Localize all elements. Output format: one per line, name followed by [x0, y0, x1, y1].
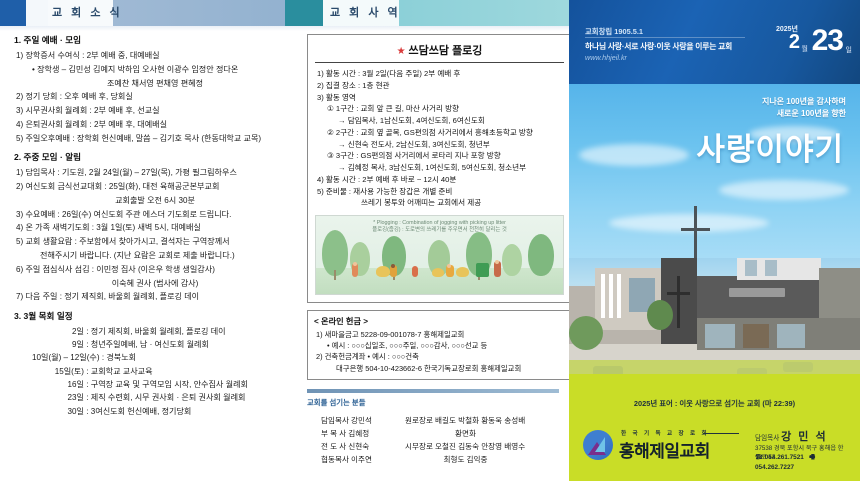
list-item: 3) 시무권사회 월례회 : 2부 예배 후, 선교실 [24, 105, 300, 117]
fax-icon: 🖷 [809, 454, 815, 461]
schedule-row: 9일 : 청년주일예배, 남 · 여신도회 월례회 [32, 339, 300, 351]
date-month: 2 [789, 31, 800, 54]
church-slogan: 하나님 사랑·서로 사랑·이웃 사랑을 이루는 교회 [585, 41, 732, 52]
elder-row: 황면화 [405, 427, 572, 440]
star-icon: ★ [397, 46, 406, 57]
list-item: 7) 다음 주일 : 정기 제직회, 바울회 월례회, 플로깅 데이 [24, 291, 300, 303]
church-phone: 054.261.7521 [765, 454, 804, 461]
plogging-line: ② 2구간 : 교회 옆 골목, GS편의점 사거리에서 흥해초등학교 방향 [335, 127, 564, 139]
plogging-line: 3) 활동 영역 [325, 92, 564, 104]
list-item: 2) 여신도회 금식선교대회 : 25일(화), 대전 육해공군본부교회 [24, 181, 300, 193]
building-entrance [743, 324, 769, 348]
list-item: 3) 수요예배 : 26일(수) 여신도회 주관 에스더 기도회로 드립니다. [24, 209, 300, 221]
tree-trunk [334, 270, 336, 280]
header-gradient-2 [399, 0, 569, 26]
pastor-name: 강 민 석 [781, 431, 827, 443]
schedule-text: : 3여신도회 헌신예배, 정기당회 [84, 407, 191, 416]
founding-date: 교회창립 1905.5.1 [585, 26, 643, 37]
servants-staff-list: 담임목사 강민석부 목 사 김혜정전 도 사 신현숙협동목사 이주연 [307, 414, 405, 466]
schedule-row: 10일(월) – 12일(수) : 경북노회 [32, 352, 300, 364]
section-title-sunday-worship: 1. 주일 예배 · 모임 [14, 34, 300, 47]
building-fin [601, 274, 605, 318]
plogging-illustration: * Plogging : Combination of jogging with… [315, 215, 564, 295]
cover-subtitle: 지나온 100년을 감사하며 새로운 100년을 향한 [569, 96, 846, 121]
elder-row: 시무장로 오철진 김동숙 안장영 배영수 [405, 440, 572, 453]
list-item: 4) 온 가족 새벽기도회 : 3월 1일(토) 새벽 5시, 대예배실 [24, 222, 300, 234]
servants-divider [307, 389, 559, 393]
building-window [745, 260, 757, 276]
schedule-text: : 청년주일예배, 남 · 여신도회 월례회 [84, 340, 209, 349]
header-rule [585, 37, 745, 38]
schedule-row: 30일 : 3여신도회 헌신예배, 정기당회 [32, 406, 300, 418]
offering-line: 대구은행 504-10-423662-6 한국기독교장로회 홍해제일교회 [336, 363, 565, 374]
trash-bag-icon [376, 266, 390, 277]
cover-panel: 교회창립 1905.5.1 하나님 사랑·서로 사랑·이웃 사랑을 이루는 교회… [569, 0, 860, 481]
tree-icon [569, 316, 603, 350]
march-schedule-list: 2일 : 정기 제직회, 바울회 월례회, 플로깅 데이9일 : 청년주일예배,… [10, 326, 300, 418]
schedule-row: 23일 : 제직 수련회, 시무 권사회 · 은퇴 권사회 월례회 [32, 392, 300, 404]
list-item: • 장학생 – 김민성 김예지 박하임 오사현 이광수 임정안 정다온 [38, 64, 300, 76]
offering-line: • 예시 : ○○○십일조, ○○○주일, ○○○감사, ○○○선교 등 [334, 340, 565, 351]
servants-elder-list: 원로장로 배길도 박철화 황동욱 송성배황면화시무장로 오철진 김동숙 안장영 … [405, 414, 572, 466]
header-underline [0, 26, 569, 31]
phone-icon: ☎ [755, 454, 763, 461]
denomination-label: 한 국 기 독 교 장 로 회 [621, 429, 709, 437]
plogging-line: 1) 활동 시간 : 3월 2일(다음 주일) 2부 예배 후 [325, 68, 564, 80]
schedule-text: : 구역장 교육 및 구역모임 시작, 안수집사 월례회 [84, 380, 248, 389]
list-item: 이숙혜 권사 (범사에 감사) [10, 278, 300, 290]
plogging-title: ★쓰담쓰담 플로깅 [315, 40, 564, 63]
list-item: 2) 정기 당회 : 오후 예배 후, 당회실 [24, 91, 300, 103]
schedule-row: 15일(토) : 교회학교 교사교육 [32, 366, 300, 378]
plogging-line: ③ 3구간 : GS편의점 사거리에서 로타리 지나 포항 방향 [335, 150, 564, 162]
plogging-line: ① 1구간 : 교회 앞 큰 길, 마산 사거리 방향 [335, 103, 564, 115]
plogging-line: 쓰레기 봉투와 어깨띠는 교회에서 제공 [361, 197, 564, 209]
schedule-row: 16일 : 구역장 교육 및 구역모임 시작, 안수집사 월례회 [32, 379, 300, 391]
schedule-text: : 정기 제직회, 바울회 월례회, 플로깅 데이 [84, 327, 226, 336]
tower-cross-vertical [677, 276, 680, 328]
contact-line: ☎ 054.261.7521 🖷 054.262.7227 [755, 453, 849, 471]
tower-cross-horizontal [667, 292, 690, 295]
list-item: 6) 주일 점심식사 섬김 : 이민정 집사 (이은우 학생 생일감사) [24, 264, 300, 276]
tree-icon [502, 244, 522, 276]
plogging-line: → 신현숙 전도사, 2남신도회, 3여신도회, 청년부 [347, 139, 564, 151]
denomination-rule [703, 433, 739, 434]
plogging-line: → 김혜정 목사, 3남신도회, 1여신도회, 5여신도회, 청소년부 [347, 162, 564, 174]
offering-line: 1) 새마을금고 5228-09-001078-7 홍해제일교회 [324, 329, 565, 340]
cover-subtitle-line1: 지나온 100년을 감사하며 [569, 96, 846, 108]
list-item: 5) 교회 생활요람 : 주보함에서 찾아가시고, 결석자는 구역장께서 [24, 236, 300, 248]
plogging-title-text: 쓰담쓰담 플로깅 [409, 45, 483, 57]
trash-bag-icon [432, 268, 444, 277]
church-news-column: 1. 주일 예배 · 모임 1) 장학증서 수여식 : 2부 예배 중, 대예배… [10, 34, 300, 474]
date-day: 23 [812, 24, 843, 58]
cloud-shape [719, 180, 849, 200]
servants-grid: 담임목사 강민석부 목 사 김혜정전 도 사 신현숙협동목사 이주연 원로장로 … [307, 414, 572, 466]
plogging-detail-list: 1) 활동 시간 : 3월 2일(다음 주일) 2부 예배 후2) 집결 장소 … [315, 68, 564, 209]
schedule-date: 23일 [32, 392, 84, 404]
list-item: 1) 담임목사 : 기도원, 2월 24일(월) – 27일(목), 가평 필그… [24, 167, 300, 179]
list-item: 1) 장학증서 수여식 : 2부 예배 중, 대예배실 [24, 50, 300, 62]
schedule-date: 16일 [32, 379, 84, 391]
church-logo-icon [583, 430, 613, 460]
building-glass [777, 324, 805, 348]
plogging-line: 4) 활동 시간 : 2부 예배 후 바로 ~ 12시 40분 [325, 174, 564, 186]
church-name: 홍해제일교회 [619, 437, 710, 462]
schedule-date: 30일 [32, 406, 84, 418]
church-ministry-column: ★쓰담쓰담 플로깅 1) 활동 시간 : 3월 2일(다음 주일) 2부 예배 … [307, 34, 572, 474]
building-window [765, 260, 777, 276]
list-item: 4) 은퇴권사회 월례회 : 2부 예배 후, 대예배실 [24, 119, 300, 131]
list-item: 교회출발 오전 6시 30분 [10, 195, 300, 207]
header-accent-block [0, 0, 26, 26]
car-shape [783, 362, 813, 372]
section-title-march-schedule: 3. 3월 목회 일정 [14, 310, 300, 323]
date-month-suffix: 월 [802, 44, 808, 54]
staff-row: 부 목 사 김혜정 [321, 427, 405, 440]
servants-title: 교회를 섬기는 분들 [307, 397, 572, 408]
section-title-weekday-meetings: 2. 주중 모임 · 알림 [14, 151, 300, 164]
header-teal-block [285, 0, 323, 26]
schedule-text: : 제직 수련회, 시무 권사회 · 은퇴 권사회 월례회 [84, 393, 245, 402]
staff-row: 협동목사 이주연 [321, 453, 405, 466]
online-offering-box: < 온라인 헌금 > 1) 새마을금고 5228-09-001078-7 홍해제… [307, 310, 572, 379]
staff-row: 전 도 사 신현숙 [321, 440, 405, 453]
schedule-date: 15일(토) [32, 366, 84, 378]
year-motto: 2025년 표어 : 이웃 사랑으로 섬기는 교회 (마 22:39) [569, 398, 860, 409]
caption-ko: 플로깅(줍깅) : 도로변의 쓰레기를 주우면서 천천히 달리는 것 [316, 227, 563, 234]
logo-triangle-cyan [595, 437, 605, 452]
building-fin [617, 274, 621, 318]
cross-icon-bar [681, 228, 710, 231]
plogging-line: 5) 준비물 : 재사용 가능한 장갑은 개별 준비 [325, 186, 564, 198]
schedule-row: 2일 : 정기 제직회, 바울회 월례회, 플로깅 데이 [32, 326, 300, 338]
offering-title: < 온라인 헌금 > [314, 315, 565, 327]
church-url[interactable]: www.hhjeil.kr [585, 53, 627, 62]
tree-icon [528, 234, 554, 276]
schedule-date: 10일(월) – 12일(수) [32, 352, 100, 364]
cover-calligraphy-title: 사랑이야기 [569, 124, 844, 169]
header-gradient-1 [113, 0, 285, 26]
elder-row: 최형도 김익중 [405, 453, 572, 466]
plogging-line: → 담임목사, 1남신도회, 4여신도회, 6여신도회 [347, 115, 564, 127]
person-figure [412, 266, 418, 277]
building-sign [729, 288, 785, 297]
elder-row: 원로장로 배길도 박철화 황동욱 송성배 [405, 414, 572, 427]
staff-row: 담임목사 강민석 [321, 414, 405, 427]
schedule-text: : 교회학교 교사교육 [84, 367, 153, 376]
list-item: 전해주시기 바랍니다. (지난 요람은 교회로 제출 바랍니다.) [40, 250, 300, 262]
schedule-date: 9일 [32, 339, 84, 351]
plogging-box: ★쓰담쓰담 플로깅 1) 활동 시간 : 3월 2일(다음 주일) 2부 예배 … [307, 34, 572, 303]
illustration-caption: * Plogging : Combination of jogging with… [316, 220, 563, 235]
tree-icon [647, 300, 673, 330]
schedule-date: 2일 [32, 326, 84, 338]
tab-news-label: 교 회 소 식 [52, 4, 123, 20]
list-item: 조예찬 채서영 편채영 편혜정 [10, 78, 300, 90]
cover-subtitle-line2: 새로운 100년을 향한 [569, 108, 846, 120]
date-day-suffix: 일 [846, 45, 852, 55]
tab-ministry-label: 교 회 사 역 [330, 4, 401, 20]
building-fin [609, 274, 613, 318]
plogging-line: 2) 집결 장소 : 1층 현관 [325, 80, 564, 92]
trash-bag-icon [456, 267, 469, 277]
church-logo-row: 한 국 기 독 교 장 로 회 홍해제일교회 담임목사 강 민 석 37538 … [583, 424, 849, 470]
bulletin-page: 교 회 소 식 교 회 사 역 1. 주일 예배 · 모임 1) 장학증서 수여… [0, 0, 860, 481]
church-fax: 054.262.7227 [755, 464, 794, 471]
building-center-band [697, 276, 819, 322]
pastor-line: 담임목사 강 민 석 [755, 428, 828, 444]
list-item: 5) 주일오후예배 : 장학회 헌신예배, 말씀 – 김기호 목사 (한동대학교… [24, 133, 300, 145]
offering-line: 2) 건축헌금계좌 • 예시 : ○○○건축 [324, 351, 565, 362]
pastor-label: 담임목사 [755, 435, 779, 442]
trash-bin-icon [476, 263, 489, 277]
building-glass [705, 324, 735, 348]
schedule-text: : 경북노회 [100, 353, 137, 362]
